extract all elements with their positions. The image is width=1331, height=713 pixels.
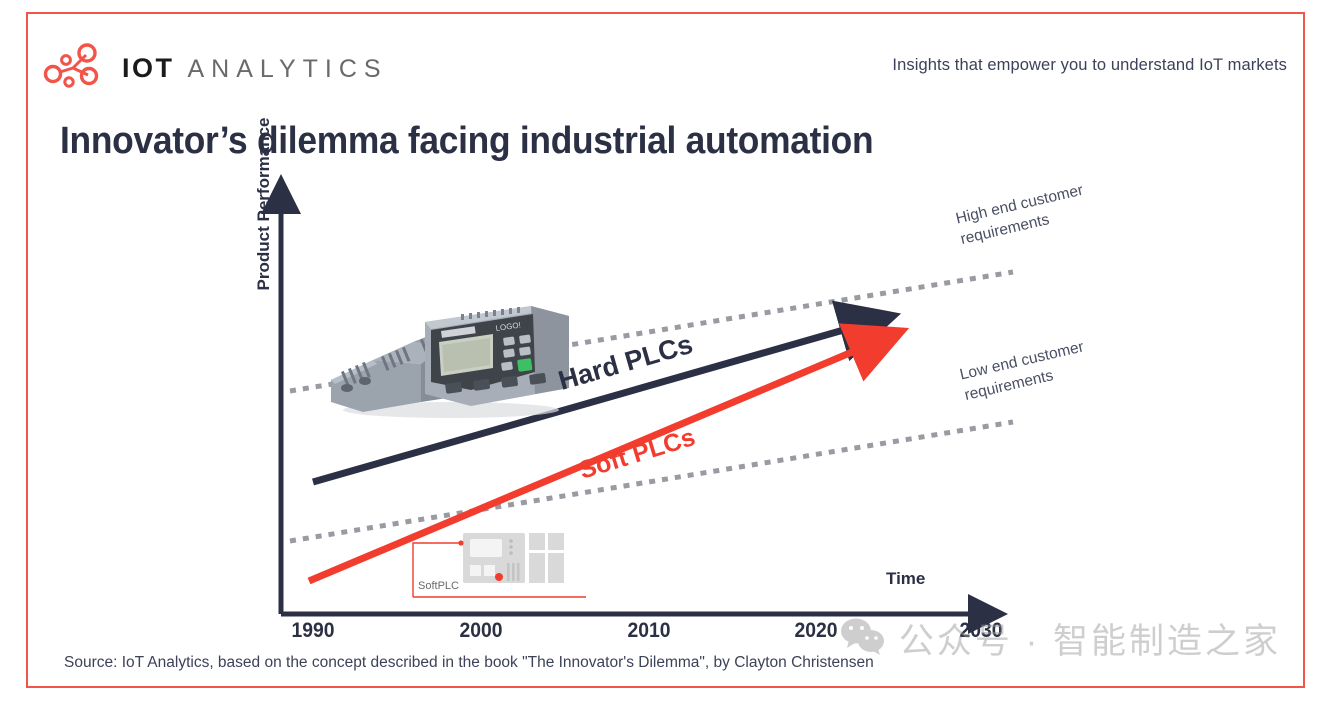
source-note: Source: IoT Analytics, based on the conc… [64,654,874,672]
wechat-icon [839,616,889,661]
x-tick-2010: 2010 [628,619,671,643]
watermark-text: 公众号 · 智能制造之家 [899,613,1281,664]
x-tick-1990: 1990 [292,619,335,643]
y-axis-label: Product Performance [254,94,274,314]
slide-card: IOT ANALYTICS Insights that empower you … [26,12,1305,688]
soft-plc-caption: SoftPLC [418,580,459,592]
x-tick-2020: 2020 [795,619,838,643]
hard-plc-photo: LOGO! [321,302,573,419]
x-axis-label: Time [886,569,925,589]
chart-area: LOGO! [28,14,1307,690]
watermark: 公众号 · 智能制造之家 [839,613,1281,664]
x-tick-2000: 2000 [460,619,503,643]
